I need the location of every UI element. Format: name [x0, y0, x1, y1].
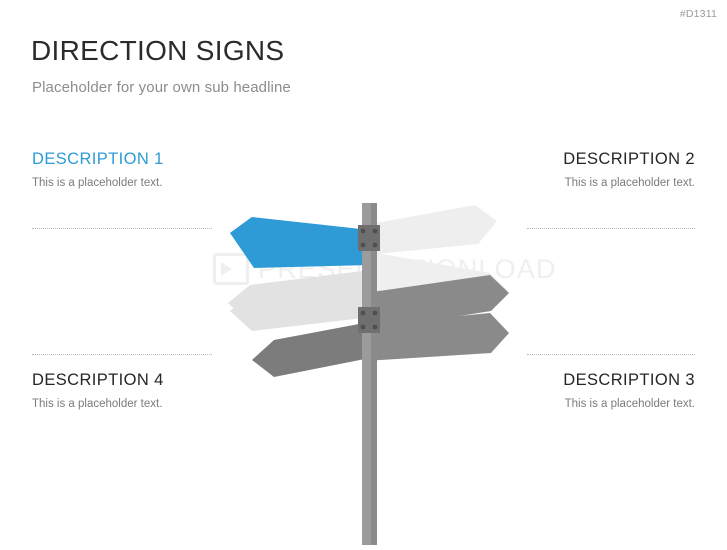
divider-bottom-left [32, 354, 212, 355]
arrow-top-left-blue [230, 217, 370, 268]
document-id: #D1311 [680, 8, 717, 20]
slide-canvas: #D1311 DIRECTION SIGNS Placeholder for y… [0, 0, 727, 545]
divider-top-right [527, 228, 695, 229]
text-block-description-1: DESCRIPTION 1 This is a placeholder text… [32, 150, 332, 189]
page-title: DIRECTION SIGNS [31, 36, 284, 67]
text-block-description-2: DESCRIPTION 2 This is a placeholder text… [395, 150, 695, 189]
signpost-post [362, 203, 377, 545]
heading-description-1: DESCRIPTION 1 [32, 150, 332, 169]
arrow-top-right-pale [365, 205, 497, 255]
heading-description-2: DESCRIPTION 2 [395, 150, 695, 169]
page-subtitle: Placeholder for your own sub headline [32, 79, 291, 96]
signpost-illustration [210, 185, 520, 545]
divider-top-left [32, 228, 212, 229]
arrow-bottom-left-dark [252, 321, 375, 377]
divider-bottom-right [527, 354, 695, 355]
